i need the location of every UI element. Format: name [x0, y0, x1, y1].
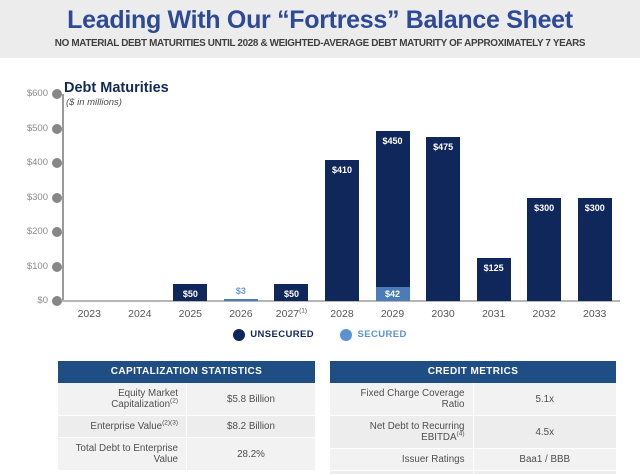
x-axis-label: 2025 [165, 308, 216, 320]
bar-stack[interactable]: $300 [527, 198, 561, 302]
table-cell-label: Total Debt to Enterprise Value [58, 438, 187, 471]
bar-group [123, 94, 157, 301]
bar-segment-unsecured[interactable]: $50 [274, 284, 308, 301]
x-axis-label: 2030 [418, 308, 469, 320]
table-cell-label: Ratings Outlooks [330, 471, 473, 474]
table-cell-value: 28.2% [187, 438, 316, 471]
table-row: Equity Market Capitalization(2)$5.8 Bill… [58, 383, 315, 416]
y-axis-tick-label: $400 [27, 157, 48, 169]
y-axis-tick-dot-icon [52, 296, 62, 306]
bar-stack[interactable]: $3 [224, 299, 258, 301]
page-subtitle: NO MATERIAL DEBT MATURITIES UNTIL 2028 &… [10, 38, 631, 49]
y-axis-tick-label: $600 [27, 88, 48, 100]
table-cell-footnote: (2) [170, 398, 178, 405]
x-axis-label: 2027(1) [266, 308, 317, 320]
credit-metrics-table: CREDIT METRICS Fixed Charge Coverage Rat… [330, 361, 616, 474]
table-cell-value: 4.5x [473, 416, 616, 449]
bar-value-label: $410 [325, 165, 359, 175]
legend-swatch-secured-icon [340, 329, 352, 341]
y-axis-tick-label: $0 [37, 295, 48, 307]
bar-group: $3 [224, 94, 258, 301]
legend-swatch-unsecured-icon [233, 329, 245, 341]
table-header-capitalization: CAPITALIZATION STATISTICS [58, 361, 315, 383]
legend-item-unsecured: UNSECURED [233, 326, 314, 344]
y-axis-tick-dot-icon [52, 262, 62, 272]
x-axis-label: 2026 [216, 308, 267, 320]
table-cell-value: $5.8 Billion [187, 383, 316, 416]
y-axis-tick: $200 [0, 226, 62, 238]
bar-segment-unsecured[interactable]: $125 [477, 258, 511, 301]
table-row: Ratings OutlooksStable / Stable [330, 471, 616, 474]
x-axis-label: 2031 [468, 308, 519, 320]
legend-label-unsecured: UNSECURED [250, 329, 314, 340]
bar-value-label: $300 [578, 203, 612, 213]
bar-group: $410 [325, 94, 359, 301]
table-cell-label: Fixed Charge Coverage Ratio [330, 383, 473, 416]
x-axis-label-footnote: (1) [299, 308, 307, 315]
bar-value-label: $50 [173, 289, 207, 299]
bar-group: $50 [274, 94, 308, 301]
bar-stack[interactable]: $50 [173, 284, 207, 301]
chart-plot-area: $50$3$50$410$450$42$475$125$300$300 [64, 94, 620, 301]
y-axis-tick-label: $500 [27, 123, 48, 135]
table-cell-label: Equity Market Capitalization(2) [58, 383, 187, 416]
table-row: Fixed Charge Coverage Ratio5.1x [330, 383, 616, 416]
bar-group [72, 94, 106, 301]
bar-stack[interactable]: $50 [274, 284, 308, 301]
y-axis-tick-label: $300 [27, 192, 48, 204]
chart-legend: UNSECURED SECURED [0, 326, 640, 344]
bar-value-label: $42 [376, 289, 410, 299]
x-axis-label: 2029 [367, 308, 418, 320]
bar-segment-secured[interactable]: $42 [376, 287, 410, 301]
x-axis-label: 2028 [317, 308, 368, 320]
table-cell-label: Net Debt to Recurring EBITDA(4) [330, 416, 473, 449]
table-row: Net Debt to Recurring EBITDA(4)4.5x [330, 416, 616, 449]
y-axis-tick-dot-icon [52, 124, 62, 134]
y-axis-tick-label: $200 [27, 226, 48, 238]
table-cell-footnote: (2)(3) [162, 420, 178, 427]
table-cell-value: 5.1x [473, 383, 616, 416]
y-axis-tick: $0 [0, 295, 62, 307]
bar-segment-unsecured[interactable]: $50 [173, 284, 207, 301]
page-title: Leading With Our “Fortress” Balance Shee… [0, 6, 640, 35]
bar-value-label: $475 [426, 142, 460, 152]
y-axis-tick-dot-icon [52, 193, 62, 203]
credit-metrics-table-body: Fixed Charge Coverage Ratio5.1xNet Debt … [330, 383, 616, 474]
bar-segment-unsecured[interactable]: $300 [527, 198, 561, 302]
table-row: Issuer RatingsBaa1 / BBB [330, 449, 616, 471]
y-axis-tick: $300 [0, 192, 62, 204]
table-cell-label: Issuer Ratings [330, 449, 473, 471]
table-cell-value: Baa1 / BBB [473, 449, 616, 471]
table-cell-label: Enterprise Value(2)(3) [58, 416, 187, 438]
bar-group: $125 [477, 94, 511, 301]
y-axis-tick: $100 [0, 261, 62, 273]
y-axis-tick-label: $100 [27, 261, 48, 273]
table-cell-footnote: (4) [457, 431, 465, 438]
bar-value-label: $300 [527, 203, 561, 213]
bar-value-label: $125 [477, 263, 511, 273]
y-axis-tick-dot-icon [52, 158, 62, 168]
bar-segment-unsecured[interactable]: $300 [578, 198, 612, 302]
bar-segment-unsecured[interactable]: $475 [426, 137, 460, 301]
x-axis-label: 2023 [64, 308, 115, 320]
capitalization-table-body: Equity Market Capitalization(2)$5.8 Bill… [58, 383, 315, 471]
y-axis-tick: $500 [0, 123, 62, 135]
x-axis-label: 2032 [519, 308, 570, 320]
table-header-credit-metrics: CREDIT METRICS [330, 361, 616, 383]
y-axis-tick-dot-icon [52, 227, 62, 237]
table-cell-value: Stable / Stable [473, 471, 616, 474]
bar-stack[interactable]: $475 [426, 137, 460, 301]
x-axis-label: 2033 [569, 308, 620, 320]
x-axis-label: 2024 [115, 308, 166, 320]
bar-group: $50 [173, 94, 207, 301]
debt-maturities-chart: Debt Maturities ($ in millions) $0$100$2… [0, 58, 640, 353]
capitalization-statistics-table: CAPITALIZATION STATISTICS Equity Market … [58, 361, 315, 471]
bar-value-label: $50 [274, 289, 308, 299]
legend-item-secured: SECURED [340, 326, 406, 344]
legend-label-secured: SECURED [357, 329, 406, 340]
bar-stack[interactable]: $300 [578, 198, 612, 302]
y-axis-tick-dot-icon [52, 89, 62, 99]
bar-stack[interactable]: $410 [325, 160, 359, 301]
bar-group: $475 [426, 94, 460, 301]
bar-group: $450$42 [376, 94, 410, 301]
table-cell-value: $8.2 Billion [187, 416, 316, 438]
bar-stack[interactable]: $125 [477, 258, 511, 301]
bar-group: $300 [527, 94, 561, 301]
bar-segment-unsecured[interactable]: $450 [376, 131, 410, 286]
table-row: Total Debt to Enterprise Value28.2% [58, 438, 315, 471]
bar-segment-secured[interactable]: $3 [224, 299, 258, 301]
bar-value-label: $3 [224, 286, 258, 296]
bar-group: $300 [578, 94, 612, 301]
bar-value-label: $450 [376, 136, 410, 146]
table-row: Enterprise Value(2)(3)$8.2 Billion [58, 416, 315, 438]
bar-segment-unsecured[interactable]: $410 [325, 160, 359, 301]
bar-stack[interactable]: $450$42 [376, 131, 410, 301]
y-axis-tick: $400 [0, 157, 62, 169]
y-axis-tick: $600 [0, 88, 62, 100]
